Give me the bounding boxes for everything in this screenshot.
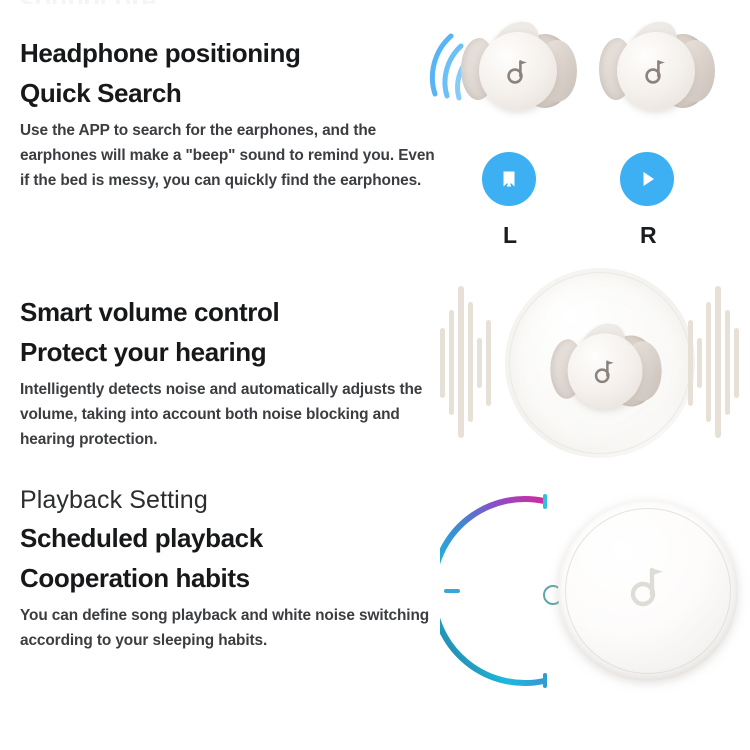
right-earbud xyxy=(593,18,723,122)
section3-heading-0: Playback Setting xyxy=(20,481,440,519)
play-icon xyxy=(635,167,659,191)
play-button[interactable] xyxy=(620,152,674,206)
section3-text-column: Playback Setting Scheduled playback Coop… xyxy=(20,481,440,654)
section1-heading-2: Quick Search xyxy=(20,74,440,114)
section1-text-column: Headphone positioning Quick Search Use t… xyxy=(20,34,440,194)
waveform-icon xyxy=(680,280,750,445)
product-feature-page: soundcore Headphone positioning Quick Se… xyxy=(0,0,750,750)
charging-case xyxy=(558,501,738,681)
section2-text-column: Smart volume control Protect your hearin… xyxy=(20,293,440,453)
section3-media-column xyxy=(440,473,750,750)
soundcore-logo-icon xyxy=(507,58,529,84)
soundcore-logo-icon xyxy=(645,58,667,84)
channel-labels: L R xyxy=(435,222,750,252)
section3-heading-1: Scheduled playback xyxy=(20,519,440,559)
left-channel-label: L xyxy=(503,222,518,249)
section1-heading-1: Headphone positioning xyxy=(20,34,440,74)
dial-arc-wrapper[interactable] xyxy=(440,483,570,698)
waveform-icon xyxy=(432,280,504,445)
section1-body-text: Use the APP to search for the earphones,… xyxy=(20,119,440,194)
section3-body-text: You can define song playback and white n… xyxy=(20,604,440,654)
section2-heading-2: Protect your hearing xyxy=(20,333,440,373)
left-earbud xyxy=(455,18,585,122)
earbud-action-buttons xyxy=(435,152,750,216)
bookmark-button[interactable] xyxy=(482,152,536,206)
soundcore-logo-icon xyxy=(630,563,666,607)
right-channel-label: R xyxy=(640,222,657,249)
section-headphone-positioning: Headphone positioning Quick Search Use t… xyxy=(0,0,750,258)
section2-heading-1: Smart volume control xyxy=(20,293,440,333)
section3-heading-2: Cooperation habits xyxy=(20,559,440,599)
section-playback-setting: Playback Setting Scheduled playback Coop… xyxy=(0,473,750,750)
earbud-pair-illustration xyxy=(435,18,750,133)
center-earbud xyxy=(545,320,670,420)
bookmark-icon xyxy=(497,167,521,191)
section1-media-column: L R xyxy=(435,0,750,258)
section-smart-volume-control: Smart volume control Protect your hearin… xyxy=(0,258,750,473)
section2-body-text: Intelligently detects noise and automati… xyxy=(20,378,440,453)
section2-media-column xyxy=(430,258,750,473)
soundcore-logo-icon xyxy=(595,358,616,383)
